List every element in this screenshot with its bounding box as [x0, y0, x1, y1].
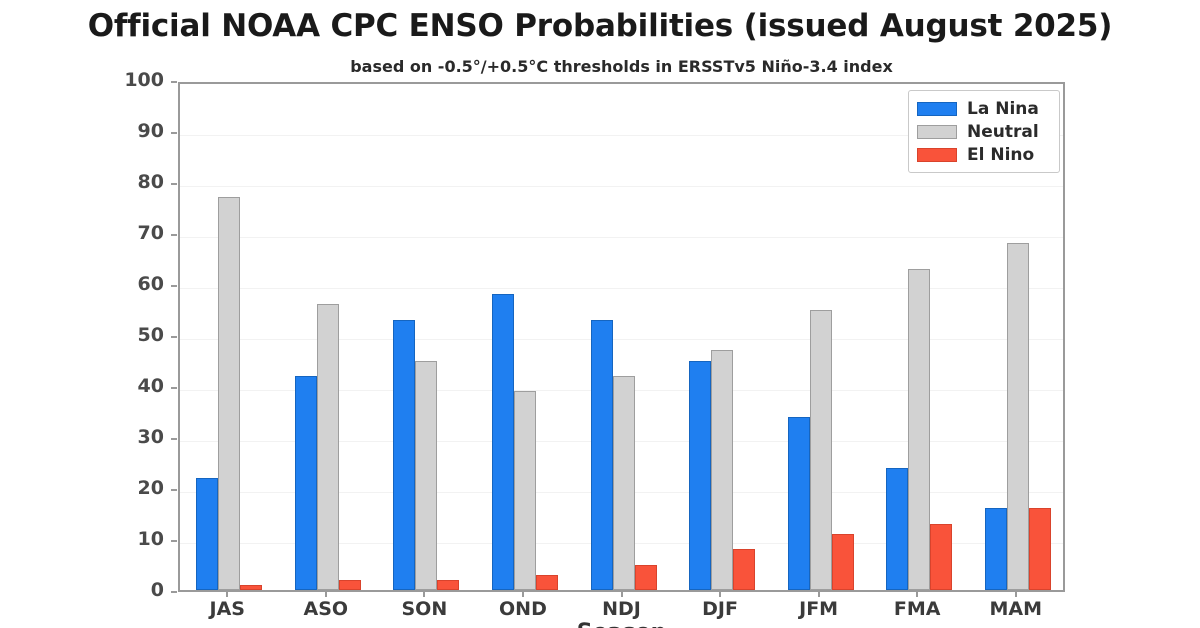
x-axis-tick-label-aso: ASO	[276, 598, 376, 620]
x-axis-tick-label-fma: FMA	[867, 598, 967, 620]
y-axis-tick-mark	[171, 234, 177, 236]
y-axis-tick-label: 10	[0, 528, 164, 550]
x-axis-tick-label-ond: OND	[473, 598, 573, 620]
bar-neutral-ndj	[613, 376, 635, 590]
chart-subtitle: based on -0.5°/+0.5°C thresholds in ERSS…	[178, 57, 1065, 76]
bar-el-nino-jfm	[832, 534, 854, 590]
chart-title: Official NOAA CPC ENSO Probabilities (is…	[0, 8, 1200, 44]
y-axis-tick-label: 60	[0, 273, 164, 295]
bar-la-nina-son	[393, 320, 415, 590]
bar-neutral-aso	[317, 304, 339, 590]
legend-label: Neutral	[967, 122, 1039, 142]
bar-el-nino-mam	[1029, 508, 1051, 590]
bar-neutral-ond	[514, 391, 536, 590]
x-axis-tick-label-mam: MAM	[966, 598, 1066, 620]
y-axis-tick-mark	[171, 591, 177, 593]
y-axis-tick-label: 90	[0, 120, 164, 142]
bar-la-nina-djf	[689, 361, 711, 591]
bar-el-nino-aso	[339, 580, 361, 590]
x-axis-tick-label-ndj: NDJ	[572, 598, 672, 620]
bar-el-nino-fma	[930, 524, 952, 590]
bar-la-nina-jas	[196, 478, 218, 590]
x-axis-tick-mark	[818, 592, 820, 597]
y-axis-tick-label: 20	[0, 477, 164, 499]
y-axis-tick-label: 0	[0, 579, 164, 601]
legend-item-neutral[interactable]: Neutral	[917, 120, 1051, 143]
bar-la-nina-jfm	[788, 417, 810, 590]
x-axis-tick-mark	[621, 592, 623, 597]
plot-frame: La NinaNeutralEl Nino	[178, 82, 1065, 592]
plot-area: La NinaNeutralEl Nino	[180, 84, 1063, 590]
y-axis-tick-mark	[171, 336, 177, 338]
y-axis-tick-mark	[171, 132, 177, 134]
x-axis-tick-label-djf: DJF	[670, 598, 770, 620]
x-axis-tick-mark	[325, 592, 327, 597]
legend-label: El Nino	[967, 145, 1034, 165]
x-axis-tick-mark	[916, 592, 918, 597]
bar-neutral-djf	[711, 350, 733, 590]
bar-el-nino-jas	[240, 585, 262, 590]
x-axis-tick-mark	[522, 592, 524, 597]
x-axis-tick-label-jfm: JFM	[769, 598, 869, 620]
bar-neutral-mam	[1007, 243, 1029, 590]
bar-neutral-jfm	[810, 310, 832, 591]
legend-item-el-nino[interactable]: El Nino	[917, 143, 1051, 166]
bar-neutral-jas	[218, 197, 240, 590]
gridline	[180, 186, 1063, 187]
y-axis-tick-mark	[171, 438, 177, 440]
bar-el-nino-djf	[733, 549, 755, 590]
x-axis-tick-label-son: SON	[374, 598, 474, 620]
legend-swatch-icon	[917, 102, 957, 116]
enso-probability-figure: Official NOAA CPC ENSO Probabilities (is…	[0, 0, 1200, 628]
y-axis-tick-mark	[171, 540, 177, 542]
bar-la-nina-ndj	[591, 320, 613, 590]
gridline	[180, 288, 1063, 289]
x-axis-tick-mark	[423, 592, 425, 597]
y-axis-tick-mark	[171, 285, 177, 287]
bar-el-nino-ond	[536, 575, 558, 590]
x-axis-tick-mark	[226, 592, 228, 597]
y-axis-tick-label: 30	[0, 426, 164, 448]
bar-la-nina-fma	[886, 468, 908, 590]
bar-la-nina-mam	[985, 508, 1007, 590]
y-axis-tick-label: 100	[0, 69, 164, 91]
x-axis-tick-label-jas: JAS	[177, 598, 277, 620]
y-axis-tick-mark	[171, 387, 177, 389]
bar-la-nina-aso	[295, 376, 317, 590]
gridline	[180, 339, 1063, 340]
bar-neutral-son	[415, 361, 437, 591]
y-axis-tick-label: 40	[0, 375, 164, 397]
y-axis-tick-mark	[171, 81, 177, 83]
y-axis-tick-mark	[171, 183, 177, 185]
bar-neutral-fma	[908, 269, 930, 590]
bar-el-nino-son	[437, 580, 459, 590]
y-axis-tick-label: 80	[0, 171, 164, 193]
bar-la-nina-ond	[492, 294, 514, 590]
legend-item-la-nina[interactable]: La Nina	[917, 97, 1051, 120]
x-axis-tick-mark	[719, 592, 721, 597]
x-axis-tick-mark	[1015, 592, 1017, 597]
legend-label: La Nina	[967, 99, 1039, 119]
bar-el-nino-ndj	[635, 565, 657, 591]
gridline	[180, 237, 1063, 238]
y-axis-tick-mark	[171, 489, 177, 491]
x-axis-label: Season	[178, 620, 1065, 628]
legend: La NinaNeutralEl Nino	[908, 90, 1060, 173]
y-axis-tick-label: 70	[0, 222, 164, 244]
legend-swatch-icon	[917, 125, 957, 139]
y-axis-tick-label: 50	[0, 324, 164, 346]
legend-swatch-icon	[917, 148, 957, 162]
